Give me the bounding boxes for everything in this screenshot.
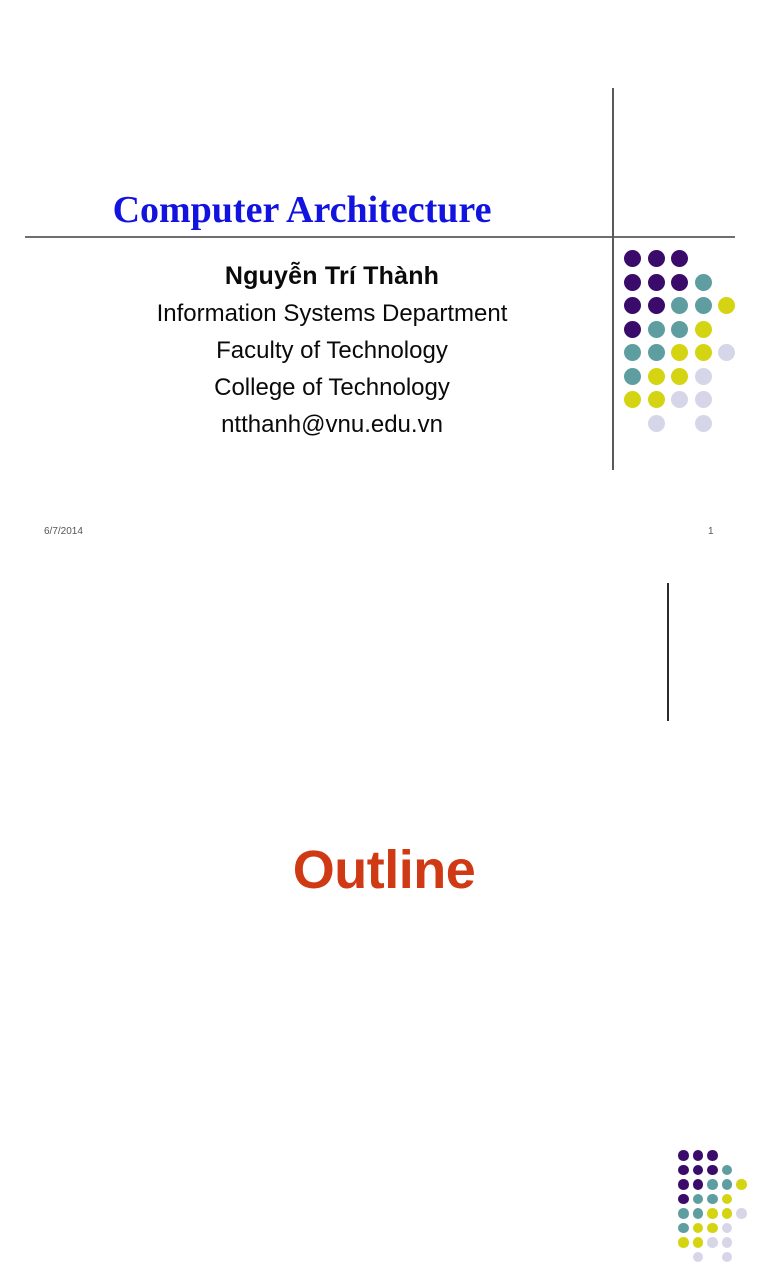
dot-grid-cell [678,1165,689,1176]
dot-grid-cell [722,1165,733,1176]
dot-grid-cell [648,391,665,408]
dot-grid-cell [722,1252,733,1263]
dot-grid-cell [722,1208,733,1219]
presenter-block: Nguyễn Trí Thành Information Systems Dep… [0,258,664,443]
dot-grid-cell [624,321,641,338]
page-title: Computer Architecture [0,188,604,232]
dot-grid-logo-top [624,250,759,455]
dot-grid-cell [722,1223,733,1234]
dot-grid-cell [695,321,712,338]
dot-grid-cell [722,1194,733,1205]
dot-grid-cell [736,1208,747,1219]
dot-grid-cell [707,1179,718,1190]
dot-grid-cell [695,274,712,291]
dot-grid-cell [707,1223,718,1234]
dot-grid-cell [678,1179,689,1190]
footer-page-number: 1 [708,526,714,537]
dot-grid-cell [693,1223,704,1234]
dot-grid-cell [695,297,712,314]
dot-grid-cell [707,1208,718,1219]
dot-grid-cell [648,368,665,385]
dot-grid-cell [693,1165,704,1176]
title-divider-horizontal [25,236,735,238]
dot-grid-cell [693,1252,704,1263]
dot-grid-cell [624,250,641,267]
dot-grid-cell [624,391,641,408]
slide-title-page: Computer Architecture Nguyễn Trí Thành I… [0,0,768,560]
dot-grid-cell [693,1208,704,1219]
dot-grid-logo-bottom [678,1150,761,1277]
dot-grid-cell [678,1194,689,1205]
dot-grid-cell [678,1223,689,1234]
presenter-name: Nguyễn Trí Thành [0,258,664,295]
dot-grid-cell [707,1194,718,1205]
dot-grid-cell [671,250,688,267]
dot-grid-cell [693,1150,704,1161]
slide-outline-page: Outline [0,560,768,1024]
dot-grid-cell [648,297,665,314]
dot-grid-cell [678,1208,689,1219]
dot-grid-cell [693,1194,704,1205]
dot-grid-cell [624,274,641,291]
dot-grid-cell [695,391,712,408]
dot-grid-cell [671,297,688,314]
dot-grid-cell [624,368,641,385]
dot-grid-cell [671,368,688,385]
dot-grid-cell [671,391,688,408]
dot-grid-cell [718,344,735,361]
dot-grid-cell [736,1179,747,1190]
dot-grid-cell [648,415,665,432]
presenter-email: ntthanh@vnu.edu.vn [0,406,664,443]
outline-divider-vertical [667,583,669,721]
dot-grid-cell [671,344,688,361]
dot-grid-cell [648,250,665,267]
dot-grid-cell [722,1237,733,1248]
dot-grid-cell [678,1150,689,1161]
dot-grid-cell [648,274,665,291]
dot-grid-cell [718,297,735,314]
dot-grid-cell [693,1237,704,1248]
dot-grid-cell [648,321,665,338]
footer-date: 6/7/2014 [44,526,83,537]
outline-heading: Outline [0,839,768,901]
dot-grid-cell [693,1179,704,1190]
affiliation-college: College of Technology [0,369,664,406]
affiliation-department: Information Systems Department [0,295,664,332]
dot-grid-cell [722,1179,733,1190]
dot-grid-cell [695,415,712,432]
dot-grid-cell [707,1165,718,1176]
dot-grid-cell [707,1150,718,1161]
dot-grid-cell [624,297,641,314]
dot-grid-cell [678,1237,689,1248]
dot-grid-cell [671,321,688,338]
dot-grid-cell [695,368,712,385]
dot-grid-cell [624,344,641,361]
dot-grid-cell [695,344,712,361]
dot-grid-cell [707,1237,718,1248]
dot-grid-cell [648,344,665,361]
affiliation-faculty: Faculty of Technology [0,332,664,369]
dot-grid-cell [671,274,688,291]
